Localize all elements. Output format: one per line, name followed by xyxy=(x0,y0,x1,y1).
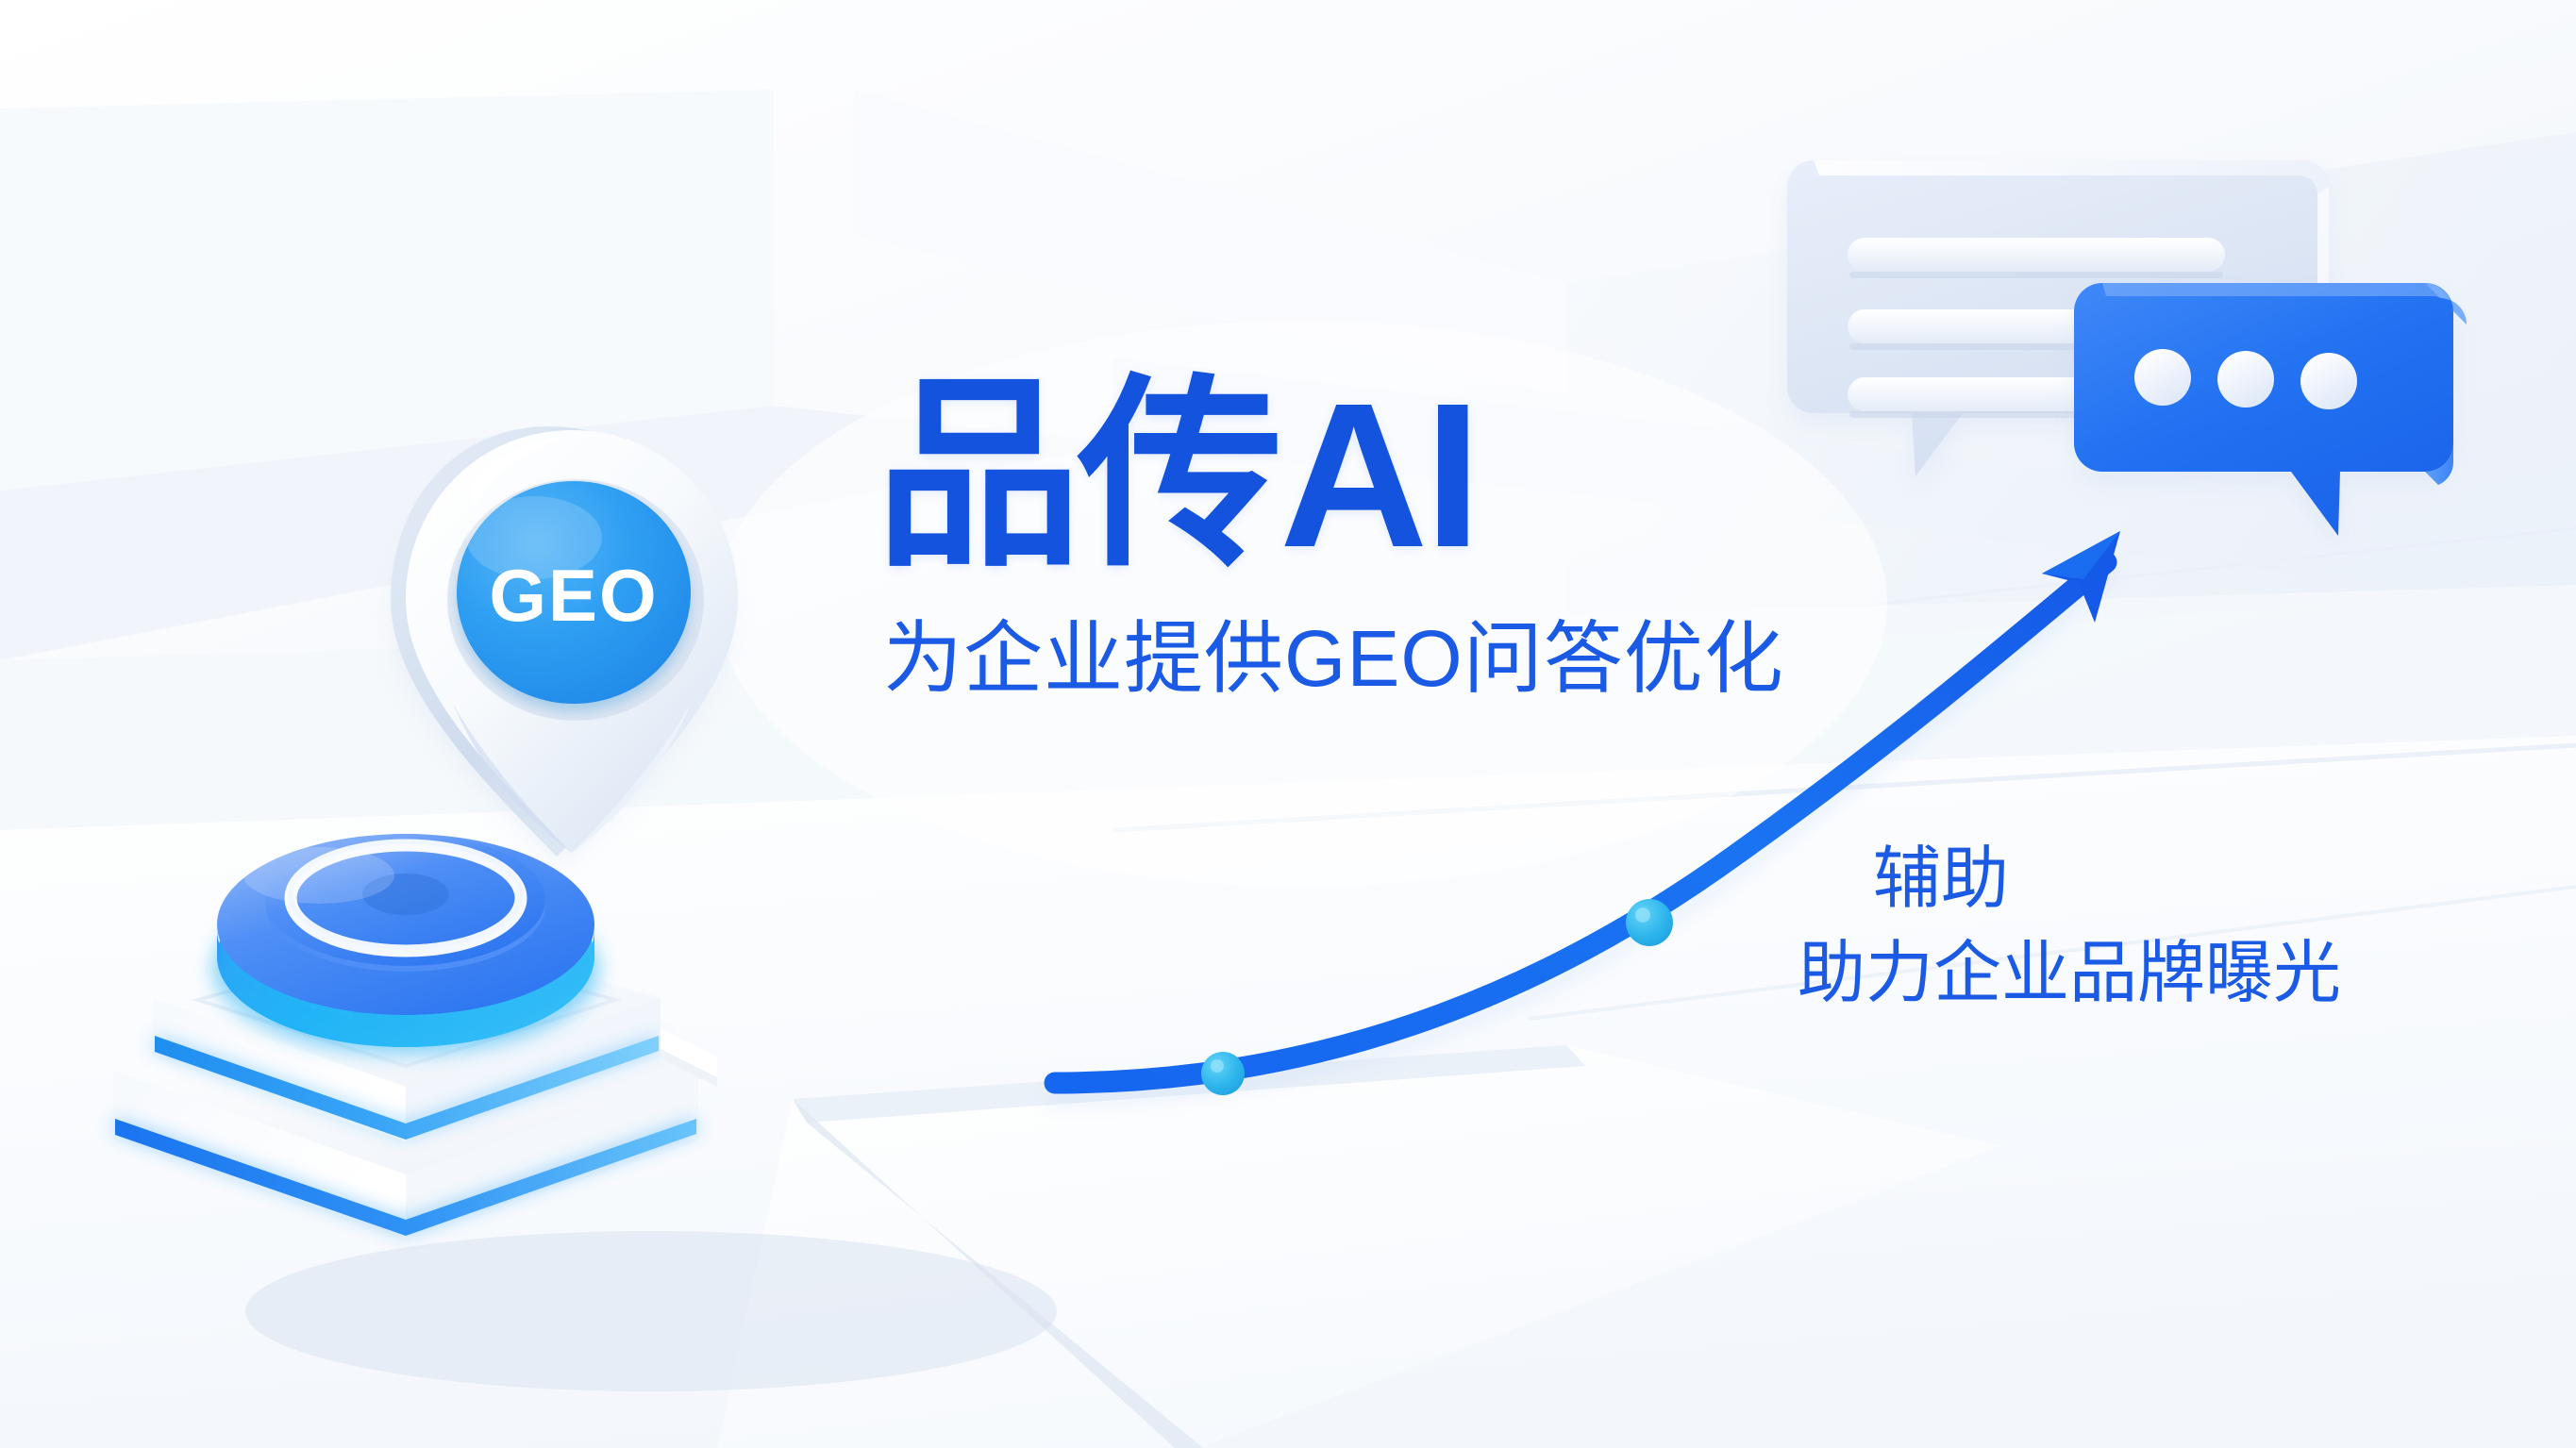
bubble-text-line-2 xyxy=(1848,309,2110,343)
bubble-text-line-1 xyxy=(1848,238,2225,272)
geo-pin-label: GEO xyxy=(489,554,658,637)
geo-pin: GEO xyxy=(349,406,783,1009)
side-copy-line-1: 辅助 xyxy=(1873,844,2477,916)
headline-block: 品传AI 为企业提供GEO问答优化 xyxy=(876,375,1819,702)
answer-bubble xyxy=(2074,283,2453,536)
side-copy-block: 辅助 助力企业品牌曝光 xyxy=(1798,844,2477,1009)
typing-dot-3 xyxy=(2300,353,2357,409)
hero-banner: GEO 品传AI 为企业提供GEO问答优化 辅助 助力企业品牌曝光 xyxy=(0,0,2576,1448)
typing-dot-2 xyxy=(2217,351,2274,408)
typing-dot-1 xyxy=(2134,349,2191,406)
chat-bubbles-group xyxy=(1774,104,2472,575)
page-title: 品传AI xyxy=(876,375,1819,577)
arrow-node-2 xyxy=(1626,899,1673,946)
bubble-text-line-3 xyxy=(1848,377,2102,411)
page-subtitle: 为企业提供GEO问答优化 xyxy=(883,615,1819,702)
side-copy-line-2: 助力企业品牌曝光 xyxy=(1798,939,2477,1010)
arrow-node-1 xyxy=(1201,1052,1245,1095)
